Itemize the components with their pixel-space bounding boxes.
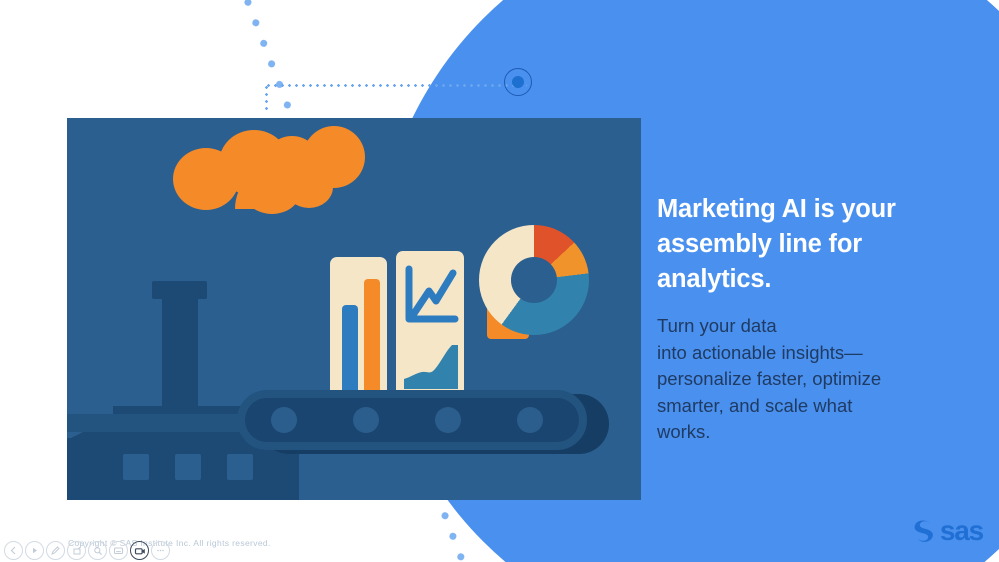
- chevron-left-icon: [9, 546, 18, 555]
- factory-illustration: [67, 118, 641, 500]
- bar-orange: [364, 279, 380, 395]
- bar-chart-card: [330, 257, 387, 409]
- area-chart-graphic: [404, 339, 458, 395]
- factory-window: [227, 454, 253, 480]
- pen-icon: [50, 545, 61, 556]
- donut-chart-hole: [511, 257, 557, 303]
- captions-button[interactable]: [109, 541, 128, 560]
- conveyor-roller: [517, 407, 543, 433]
- chimney-cap: [152, 281, 207, 299]
- slide-canvas: Marketing AI is your assembly line for a…: [0, 0, 999, 562]
- play-icon: [30, 546, 39, 555]
- camera-icon: [134, 545, 146, 557]
- chimney: [162, 298, 198, 418]
- target-marker-decoration: [504, 68, 534, 98]
- player-controls-bar: [4, 541, 170, 560]
- laser-pointer-button[interactable]: [67, 541, 86, 560]
- dotted-vertical-line-decoration: [265, 84, 268, 110]
- smoke-puff: [285, 166, 333, 208]
- slide-body-text: Turn your data into actionable insights—…: [657, 313, 947, 446]
- conveyor-roller: [271, 407, 297, 433]
- pointer-icon: [72, 546, 82, 556]
- ellipsis-icon: [155, 545, 166, 556]
- line-chart-card: [396, 251, 464, 409]
- sas-logo-text: sas: [940, 517, 983, 545]
- sas-swirl-icon: [909, 516, 939, 546]
- sas-logo: sas: [909, 516, 983, 546]
- more-options-button[interactable]: [151, 541, 170, 560]
- zoom-button[interactable]: [88, 541, 107, 560]
- conveyor-roller: [435, 407, 461, 433]
- bar-blue: [342, 305, 358, 395]
- play-button[interactable]: [25, 541, 44, 560]
- line-chart-graphic: [403, 263, 459, 333]
- dotted-horizontal-line-decoration: [265, 84, 527, 87]
- slide-headline: Marketing AI is your assembly line for a…: [657, 192, 947, 297]
- magnifier-icon: [93, 546, 103, 556]
- pen-tool-button[interactable]: [46, 541, 65, 560]
- factory-window: [123, 454, 149, 480]
- captions-icon: [113, 545, 124, 556]
- copy-block: Marketing AI is your assembly line for a…: [657, 192, 947, 446]
- record-button[interactable]: [130, 541, 149, 560]
- factory-window: [175, 454, 201, 480]
- target-core-icon: [512, 76, 524, 88]
- previous-slide-button[interactable]: [4, 541, 23, 560]
- conveyor-roller: [353, 407, 379, 433]
